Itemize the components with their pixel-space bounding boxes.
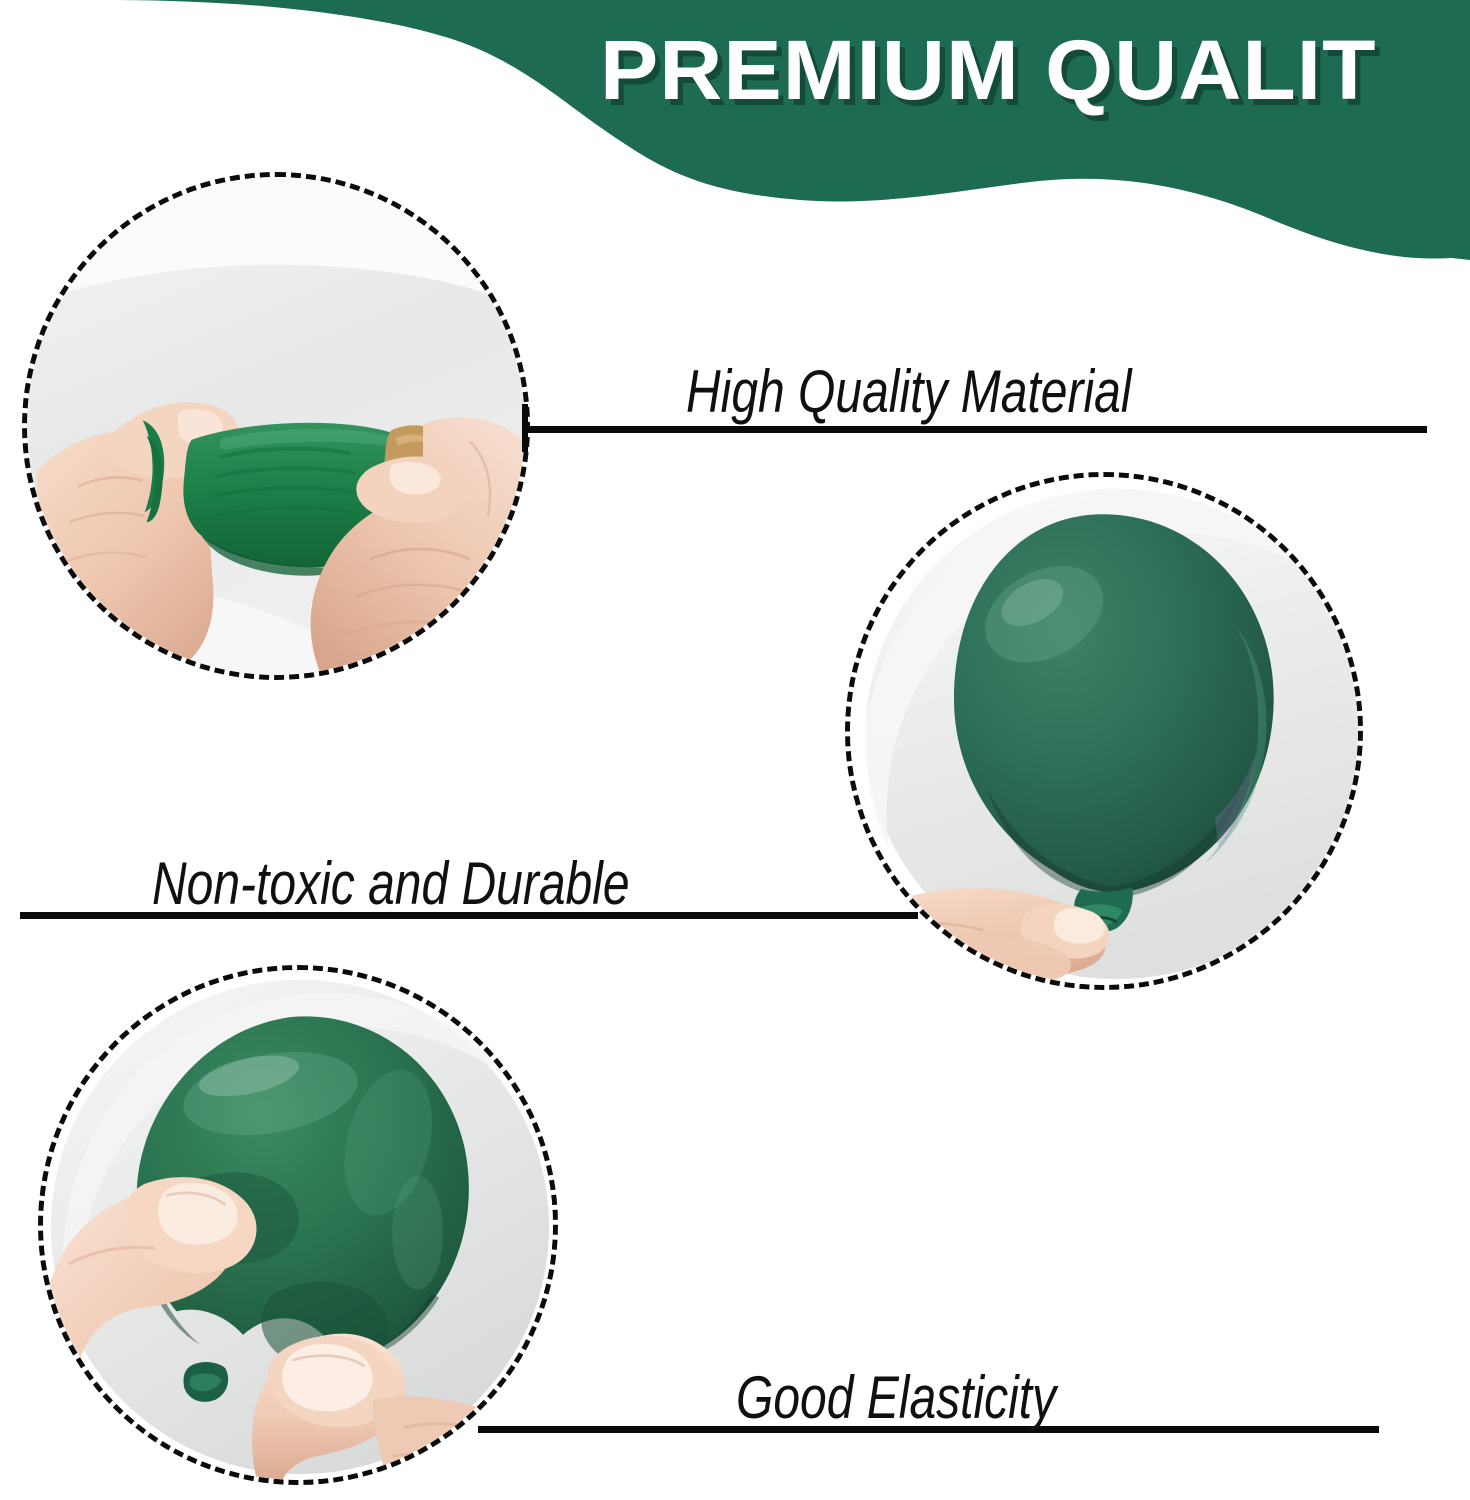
feature-label-non-toxic-and-durable: Non-toxic and Durable bbox=[152, 852, 630, 915]
photo-good-elasticity bbox=[43, 970, 553, 1480]
squeezed-balloon-illustration bbox=[43, 970, 553, 1480]
photo-circle-high-quality-material bbox=[22, 172, 530, 680]
feature-label-good-elasticity: Good Elasticity bbox=[736, 1366, 1056, 1429]
leader-line-high-quality-material bbox=[522, 426, 1427, 433]
feature-label-high-quality-material: High Quality Material bbox=[686, 360, 1132, 423]
inflated-balloon-illustration bbox=[850, 477, 1358, 985]
stretched-balloon-illustration bbox=[27, 177, 525, 675]
photo-circle-non-toxic-and-durable bbox=[845, 472, 1363, 990]
photo-non-toxic-and-durable bbox=[850, 477, 1358, 985]
photo-high-quality-material bbox=[27, 177, 525, 675]
page-title: PREMIUM QUALIT bbox=[600, 28, 1470, 112]
product-feature-infographic: PREMIUM QUALIT bbox=[0, 0, 1470, 1500]
photo-circle-good-elasticity bbox=[38, 965, 558, 1485]
